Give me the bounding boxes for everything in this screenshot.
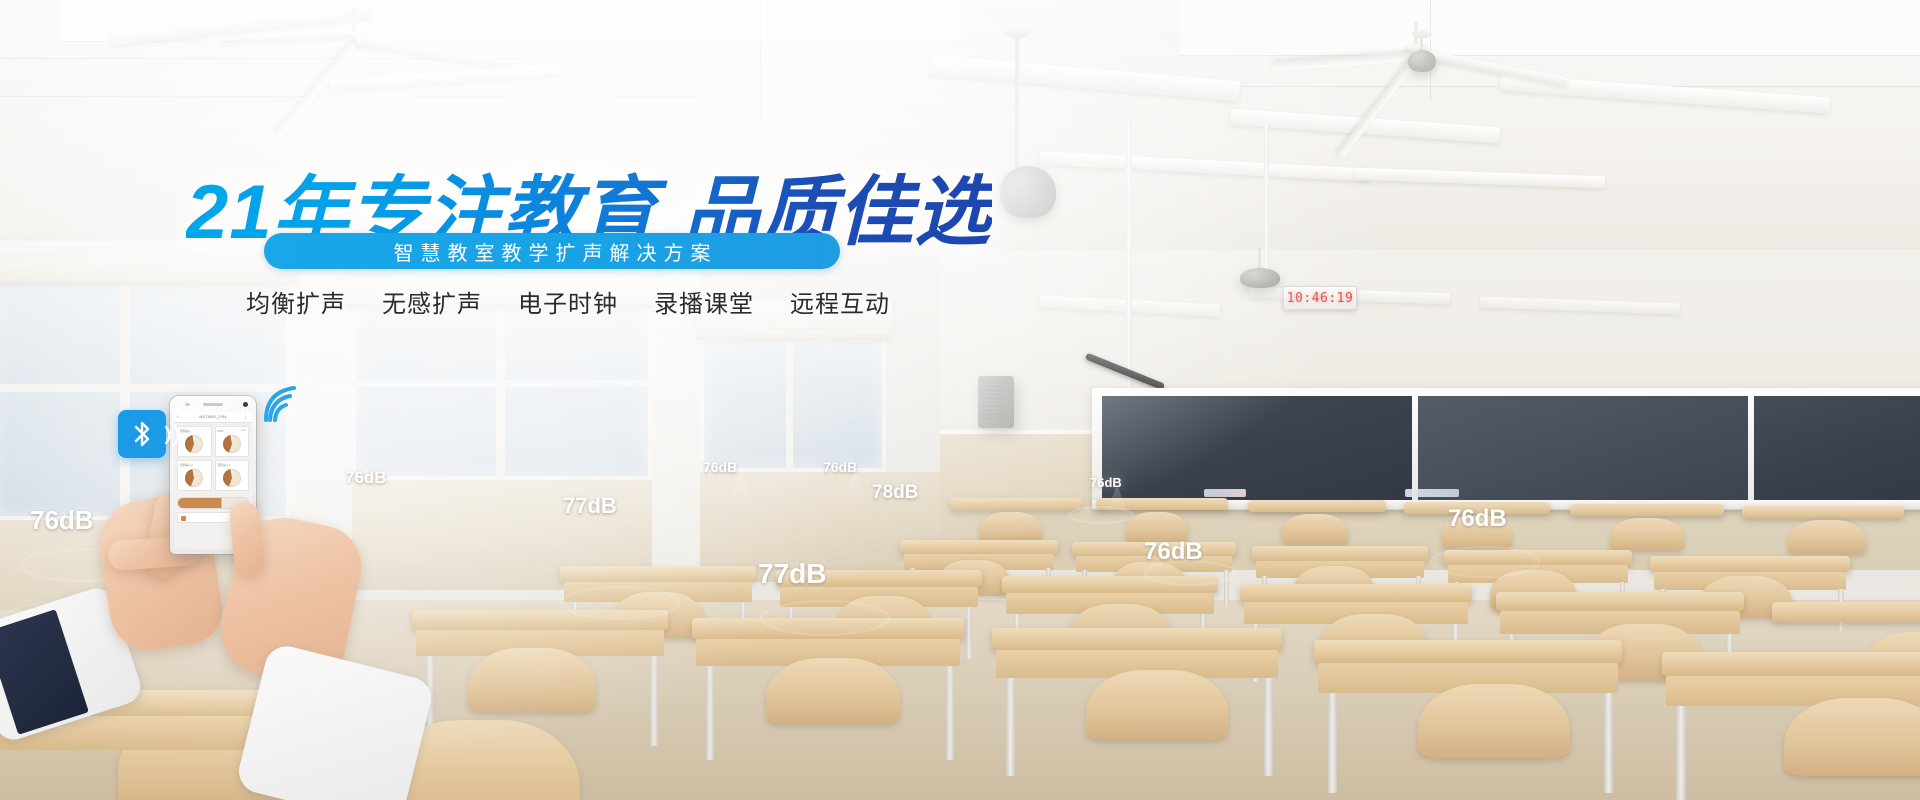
front-camera xyxy=(243,402,248,407)
db-label: 78dB xyxy=(872,482,918,504)
feature-item-4: 录播课堂 xyxy=(654,284,754,319)
volume-knob[interactable] xyxy=(223,469,241,487)
clock-time: 10:46:19 xyxy=(1287,291,1354,306)
channel-card[interactable]: MP3 12% xyxy=(215,426,250,457)
proximity-sensor xyxy=(185,403,190,406)
channel-card[interactable]: 话筒输入3 xyxy=(215,460,250,491)
earpiece-speaker xyxy=(203,403,223,406)
channel-label: 话筒输入2 xyxy=(180,463,209,467)
db-label: 76dB xyxy=(345,468,387,488)
feature-item-2: 无感扩声 xyxy=(382,284,482,319)
bluetooth-icon xyxy=(132,420,152,448)
window-right xyxy=(700,330,886,472)
db-label: 76dB xyxy=(703,459,737,475)
bluetooth-badge xyxy=(118,410,166,458)
app-title: MX73601_2*04 xyxy=(199,415,226,419)
db-label: 76dB xyxy=(823,459,857,475)
db-label: 76dB xyxy=(1144,538,1203,566)
feature-item-3: 电子时钟 xyxy=(518,284,618,319)
db-label: 77dB xyxy=(563,493,617,519)
blackboard-panel-left xyxy=(1102,396,1412,502)
electronic-clock: 10:46:19 xyxy=(1283,286,1357,310)
channel-label: 话筒输入3 xyxy=(218,463,247,467)
tray-items-2 xyxy=(1405,489,1459,497)
tray-items xyxy=(1204,489,1246,497)
banner-stage: 10:46:19 xyxy=(0,0,1920,800)
subtitle-text: 智慧教室教学扩声解决方案 xyxy=(387,237,718,266)
db-label: 77dB xyxy=(758,558,826,590)
blackboard-panel-right xyxy=(1754,396,1920,502)
subtitle-pill: 智慧教室教学扩声解决方案 xyxy=(264,233,840,269)
feature-list: 均衡扩声无感扩声电子时钟录播课堂远程互动 xyxy=(246,284,890,319)
db-label: 76dB xyxy=(1090,475,1122,490)
db-label: 76dB xyxy=(30,505,94,536)
db-label: 76dB xyxy=(1448,505,1507,533)
wireless-signal-icon xyxy=(262,382,306,422)
channel-card[interactable]: 话筒输入2 xyxy=(177,460,212,491)
interactive-screen xyxy=(1418,396,1748,502)
volume-knob[interactable] xyxy=(223,435,241,453)
wall-speaker xyxy=(978,376,1014,428)
channel-sub: 12% xyxy=(241,429,246,432)
volume-knob[interactable] xyxy=(185,469,203,487)
feature-item-1: 均衡扩声 xyxy=(246,284,346,319)
feature-item-5: 远程互动 xyxy=(790,284,890,319)
more-vertical-icon[interactable]: ⋮ xyxy=(243,415,248,420)
bluetooth-signal-waves xyxy=(160,418,194,452)
